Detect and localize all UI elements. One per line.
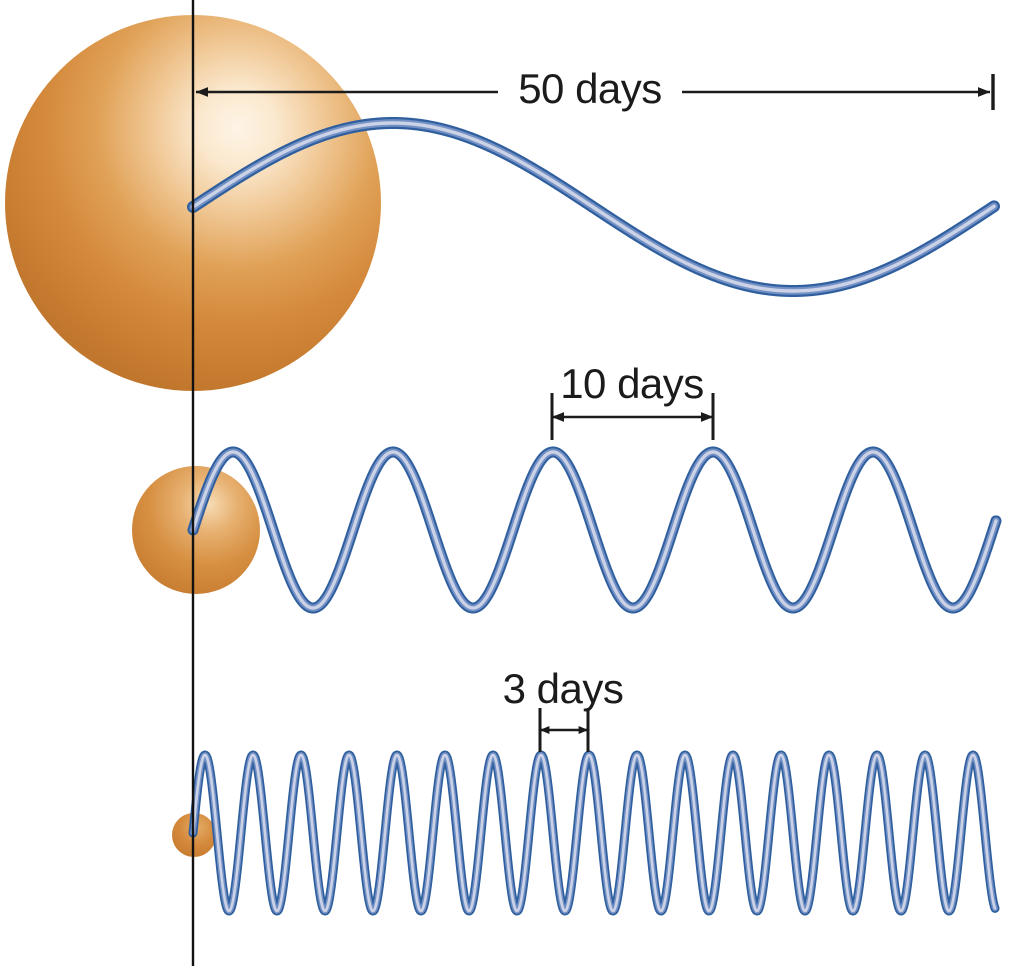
dimension-10-days: 10 days bbox=[552, 360, 713, 440]
oscillation-wave-small-star bbox=[193, 755, 995, 911]
figure-canvas: 50 days 10 days 3 days bbox=[0, 0, 1024, 970]
dimension-label-50-days: 50 days bbox=[518, 65, 662, 112]
dimension-3-days: 3 days bbox=[503, 665, 624, 752]
dimension-label-10-days: 10 days bbox=[560, 360, 704, 407]
oscillation-wave-medium-star bbox=[193, 452, 996, 608]
oscillation-period-figure: 50 days 10 days 3 days bbox=[0, 0, 1024, 970]
dimension-label-3-days: 3 days bbox=[503, 665, 624, 712]
